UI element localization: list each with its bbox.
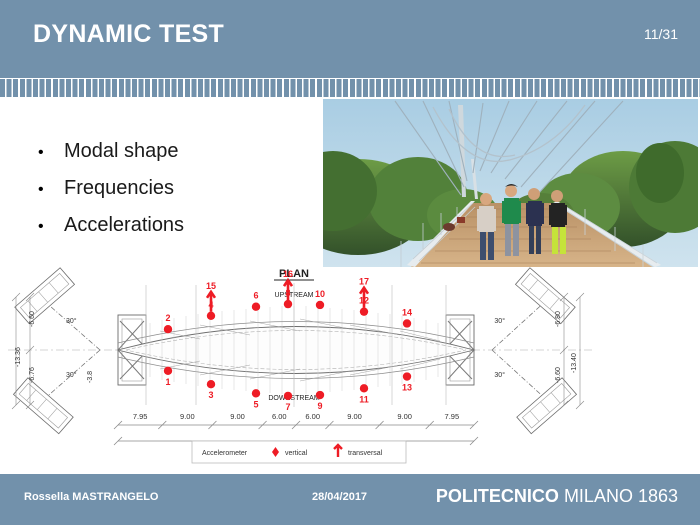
- sensor-label-15: 15: [206, 281, 216, 291]
- left-angle-lower-label: 30°: [66, 371, 77, 379]
- sensor-marker-2[interactable]: 2: [164, 313, 172, 333]
- left-angle-upper-label: 30°: [66, 317, 77, 325]
- bullet-label: Modal shape: [64, 140, 179, 163]
- bridge-plan-drawing: PLAN UPSTREAM DOWNSTREAM: [0, 255, 600, 470]
- sensor-label-14: 14: [402, 307, 412, 317]
- dimension-label: 9.00: [230, 412, 245, 421]
- sensor-label-17: 17: [359, 277, 369, 287]
- sensor-label-5: 5: [253, 399, 258, 409]
- sensor-marker-11[interactable]: 11: [359, 384, 369, 404]
- sensor-label-7: 7: [285, 402, 290, 412]
- bridge-photo-illustration: [323, 99, 698, 267]
- sensor-marker-14[interactable]: 14: [402, 307, 412, 327]
- sensor-label-10: 10: [315, 289, 325, 299]
- sensor-label-16: 16: [283, 269, 293, 279]
- right-angle-upper-label: 30°: [494, 317, 505, 325]
- sensor-marker-10[interactable]: 10: [315, 289, 325, 309]
- left-dim-inner-label: -3.8: [87, 371, 94, 383]
- sensor-marker-6[interactable]: 6: [252, 291, 260, 311]
- sensor-label-9: 9: [317, 401, 322, 411]
- right-dim-total-label: -13.40: [571, 353, 578, 373]
- legend-transversal-label: transversal: [348, 450, 383, 457]
- dimension-label: 7.95: [445, 412, 460, 421]
- bridge-plan-svg: PLAN UPSTREAM DOWNSTREAM: [0, 255, 600, 470]
- bullet-marker-icon: •: [38, 144, 64, 162]
- bullet-marker-icon: •: [38, 181, 64, 199]
- dimension-label: 7.95: [133, 412, 148, 421]
- slide-footer: Rossella MASTRANGELO 28/04/2017 POLITECN…: [0, 474, 700, 525]
- sensor-label-2: 2: [165, 313, 170, 323]
- footer-brand: POLITECNICO MILANO 1863: [436, 486, 678, 507]
- bullet-marker-icon: •: [38, 218, 64, 236]
- sensor-marker-3[interactable]: 3: [207, 380, 215, 400]
- sensor-label-3: 3: [208, 390, 213, 400]
- sensor-label-13: 13: [402, 383, 412, 393]
- list-item: • Frequencies: [38, 177, 308, 200]
- dimension-label: 9.00: [397, 412, 412, 421]
- legend-vertical-label: vertical: [285, 450, 308, 457]
- left-dim-upper-label: -6.60: [29, 311, 36, 327]
- slide-root: DYNAMIC TEST 11/31 • Modal shape • Frequ…: [0, 0, 700, 525]
- footer-author: Rossella MASTRANGELO: [24, 491, 158, 503]
- list-item: • Modal shape: [38, 140, 308, 163]
- sensor-label-6: 6: [253, 291, 258, 301]
- decorative-stripe-band: [0, 79, 700, 97]
- right-angle-lower-label: 30°: [494, 371, 505, 379]
- sensor-label-1: 1: [165, 377, 170, 387]
- sensor-marker-1[interactable]: 1: [164, 367, 172, 387]
- dimension-label: 9.00: [180, 412, 195, 421]
- dimension-label: 9.00: [347, 412, 362, 421]
- dimension-label: 6.00: [305, 412, 320, 421]
- bullet-label: Frequencies: [64, 177, 174, 200]
- dimension-label: 6.00: [272, 412, 287, 421]
- page-title: DYNAMIC TEST: [33, 20, 224, 49]
- sensor-transversal-15[interactable]: 15: [206, 281, 216, 312]
- bridge-photo: [323, 99, 698, 267]
- footer-date: 28/04/2017: [312, 491, 367, 503]
- right-dim-lower-label: -6.60: [555, 367, 562, 383]
- list-item: • Accelerations: [38, 214, 308, 237]
- legend-title: Accelerometer: [202, 450, 248, 457]
- brand-bold: POLITECNICO: [436, 486, 559, 506]
- legend-box: Accelerometer vertical transversal: [192, 441, 406, 463]
- right-dim-upper-label: -6.80: [555, 311, 562, 327]
- left-dim-lower-label: -6.76: [29, 367, 36, 383]
- sensor-marker-9[interactable]: 9: [316, 391, 324, 411]
- sensor-marker-5[interactable]: 5: [252, 389, 260, 409]
- slide-header: DYNAMIC TEST 11/31: [0, 0, 700, 78]
- left-dim-total-label: -13.36: [15, 347, 22, 367]
- sensor-marker-13[interactable]: 13: [402, 372, 412, 392]
- bullet-label: Accelerations: [64, 214, 184, 237]
- bullet-list: • Modal shape • Frequencies • Accelerati…: [38, 140, 308, 251]
- sensor-label-11: 11: [359, 394, 369, 404]
- brand-light: MILANO 1863: [564, 486, 678, 506]
- page-number: 11/31: [644, 26, 678, 42]
